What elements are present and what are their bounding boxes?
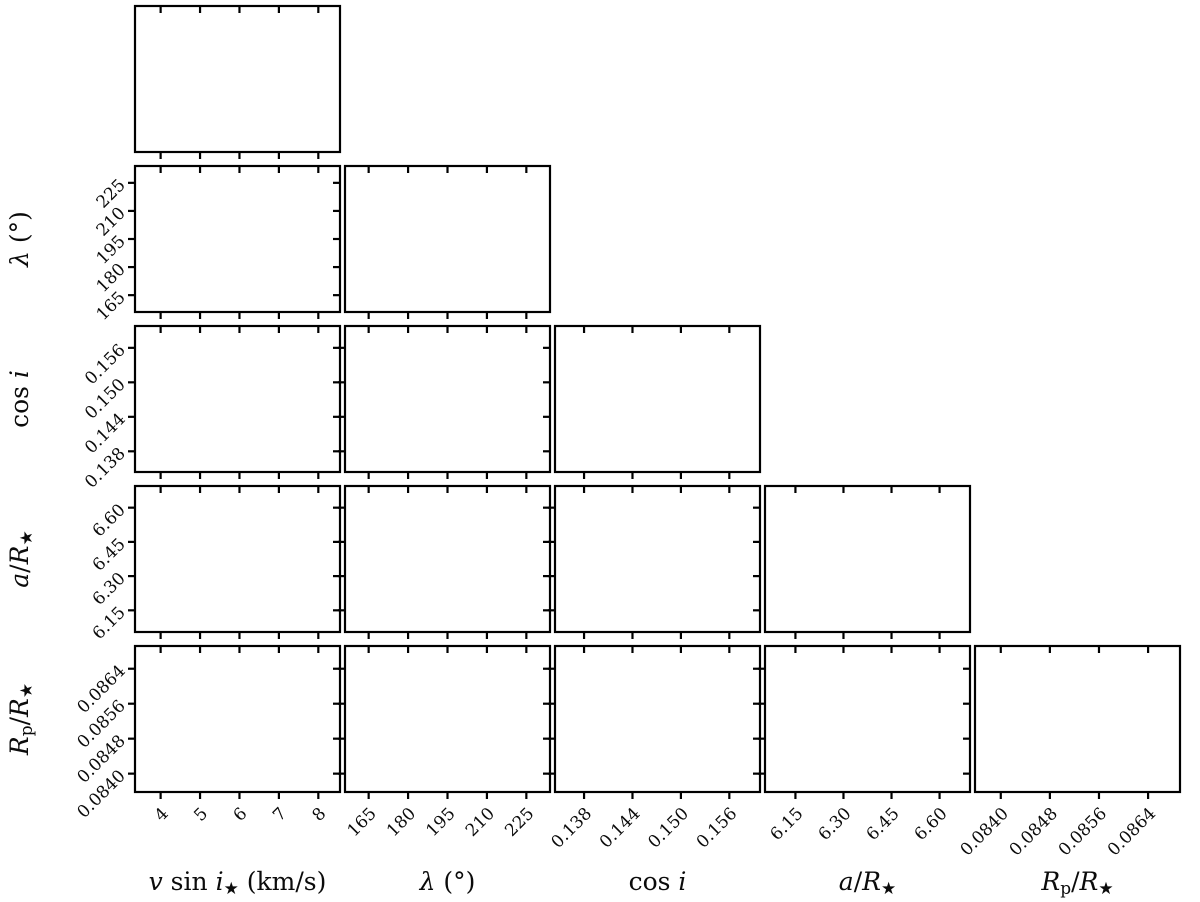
axis-title-lambda: λ (°)	[419, 867, 476, 896]
x-tick-label-aRs-0: 6.15	[767, 804, 808, 845]
panel-frame	[765, 486, 970, 632]
panel-frame	[135, 326, 340, 472]
x-tick-label-cosi-3: 0.156	[693, 804, 742, 853]
x-tick-label-lambda-2: 195	[422, 804, 459, 841]
marginal-panel-lambda	[345, 166, 550, 319]
panel-frame	[345, 486, 550, 632]
marginal-panel-vsini	[135, 6, 340, 159]
panel-frame	[555, 486, 760, 632]
panel-frame	[555, 326, 760, 472]
x-tick-label-cosi-0: 0.138	[548, 804, 597, 853]
corner-plot-figure: 456781651801952102250.1380.1440.1500.156…	[0, 0, 1200, 902]
x-tick-label-RpRs-2: 0.0856	[1055, 804, 1111, 860]
x-tick-label-vsini-1: 5	[190, 804, 212, 826]
joint-panel-lambda-vs-aRs	[338, 486, 550, 639]
axis-title-cosi: cos i	[629, 867, 687, 896]
joint-panel-cosi-vs-aRs	[548, 486, 760, 639]
y-tick-label-aRs-2: 6.45	[89, 534, 130, 575]
joint-panel-vsini-vs-lambda	[128, 166, 340, 319]
joint-panel-vsini-vs-cosi	[128, 326, 340, 479]
x-tick-label-aRs-3: 6.60	[911, 804, 952, 845]
x-tick-label-vsini-2: 6	[230, 804, 252, 826]
y-tick-label-lambda-4: 225	[93, 175, 130, 212]
panel-frame	[765, 646, 970, 792]
x-tick-label-aRs-2: 6.45	[863, 804, 904, 845]
panel-frame	[345, 326, 550, 472]
axis-title-cosi: cos i	[5, 370, 34, 428]
y-tick-label-aRs-3: 6.60	[89, 500, 130, 541]
marginal-panel-aRs	[765, 486, 970, 639]
x-tick-label-lambda-1: 180	[383, 804, 420, 841]
joint-panel-aRs-vs-RpRs	[758, 646, 970, 799]
axis-title-vsini: v sin i★ (km/s)	[149, 867, 327, 899]
panel-frame	[555, 646, 760, 792]
marginal-panel-RpRs	[975, 646, 1180, 799]
x-tick-label-RpRs-0: 0.0840	[957, 804, 1013, 860]
panel-frame	[135, 6, 340, 152]
panel-frame	[975, 646, 1180, 792]
y-tick-label-lambda-2: 195	[93, 232, 130, 269]
axis-title-aRs: a/R★	[839, 867, 896, 899]
y-tick-label-lambda-0: 165	[93, 288, 130, 325]
x-tick-label-cosi-2: 0.150	[644, 804, 693, 853]
panels-layer	[128, 6, 1180, 799]
x-tick-label-RpRs-3: 0.0864	[1104, 804, 1160, 860]
joint-panel-lambda-vs-cosi	[338, 326, 550, 479]
axis-title-RpRs: Rp/R★	[5, 683, 37, 756]
joint-panel-vsini-vs-RpRs	[128, 646, 340, 799]
y-tick-label-lambda-3: 210	[93, 203, 130, 240]
panel-frame	[345, 646, 550, 792]
x-tick-label-lambda-3: 210	[462, 804, 499, 841]
x-tick-label-lambda-4: 225	[501, 804, 538, 841]
panel-frame	[345, 166, 550, 312]
y-tick-label-aRs-0: 6.15	[89, 603, 130, 644]
corner-plot-canvas: 456781651801952102250.1380.1440.1500.156…	[0, 0, 1200, 902]
y-tick-label-cosi-3: 0.156	[81, 340, 130, 389]
x-tick-label-vsini-3: 7	[269, 804, 291, 826]
panel-frame	[135, 486, 340, 632]
x-tick-label-vsini-0: 4	[151, 804, 173, 826]
panel-frame	[135, 646, 340, 792]
joint-panel-vsini-vs-aRs	[128, 486, 340, 639]
y-tick-label-lambda-1: 180	[93, 260, 130, 297]
x-tick-label-vsini-4: 8	[309, 804, 331, 826]
y-tick-label-aRs-1: 6.30	[89, 569, 130, 610]
axis-title-lambda: λ (°)	[5, 211, 34, 268]
x-tick-label-RpRs-1: 0.0848	[1006, 804, 1062, 860]
x-tick-label-aRs-1: 6.30	[815, 804, 856, 845]
x-tick-label-lambda-0: 165	[344, 804, 381, 841]
axis-title-aRs: a/R★	[5, 530, 37, 587]
x-tick-label-cosi-1: 0.144	[596, 804, 645, 853]
axis-title-RpRs: Rp/R★	[1040, 867, 1113, 899]
marginal-panel-cosi	[555, 326, 760, 479]
panel-frame	[135, 166, 340, 312]
joint-panel-cosi-vs-RpRs	[548, 646, 760, 799]
joint-panel-lambda-vs-RpRs	[338, 646, 550, 799]
